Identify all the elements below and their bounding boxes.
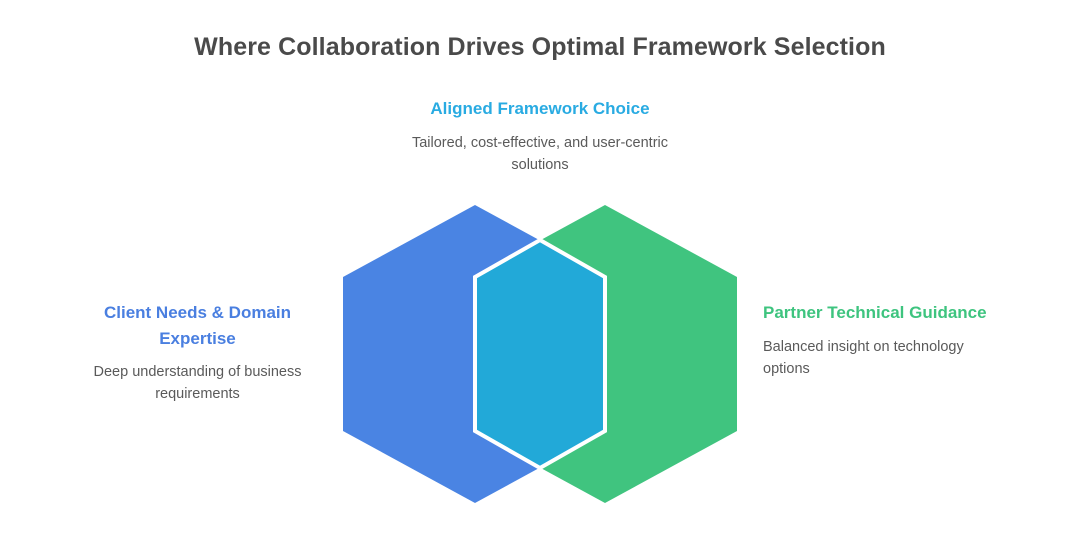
right-set-heading: Partner Technical Guidance — [763, 300, 1008, 326]
hexagon-venn-diagram — [0, 0, 1080, 556]
right-set-description: Balanced insight on technology options — [763, 336, 1008, 381]
intersection-hexagon-shape[interactable] — [475, 240, 605, 468]
diagram-canvas: Where Collaboration Drives Optimal Frame… — [0, 0, 1080, 556]
left-set-description: Deep understanding of business requireme… — [75, 361, 320, 406]
intersection-description: Tailored, cost-effective, and user-centr… — [390, 132, 690, 177]
left-set-heading: Client Needs & Domain Expertise — [75, 300, 320, 351]
intersection-heading: Aligned Framework Choice — [390, 96, 690, 122]
left-set-label-group: Client Needs & Domain Expertise Deep und… — [75, 300, 320, 406]
intersection-label-group: Aligned Framework Choice Tailored, cost-… — [390, 96, 690, 176]
right-set-label-group: Partner Technical Guidance Balanced insi… — [763, 300, 1008, 380]
